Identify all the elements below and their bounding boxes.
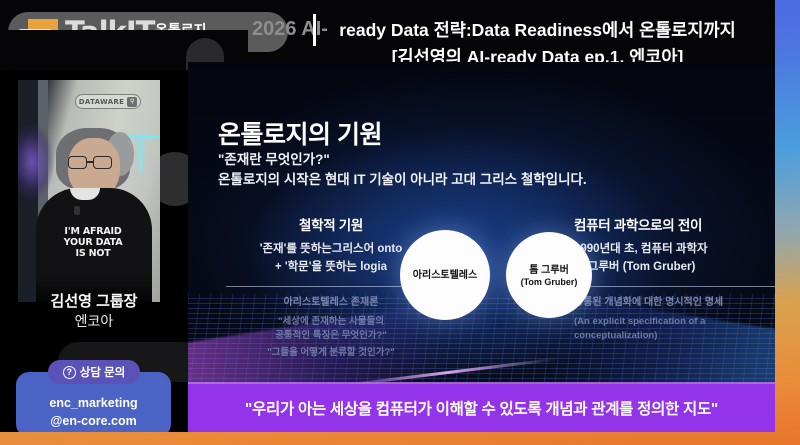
- glasses-lens-left: [68, 156, 87, 169]
- header-bar: TalkIT B2B Tech Media 온톨로지 2026 AI- read…: [0, 0, 775, 70]
- shirt-slogan-line3: IS NOT: [50, 248, 136, 259]
- contact-heading-label: 상담 문의: [80, 364, 126, 380]
- column-right-english1: (An explicit specification of a: [574, 315, 775, 329]
- shirt-slogan-line2: YOUR DATA: [50, 237, 136, 248]
- search-icon: ⚲: [127, 97, 137, 107]
- glasses-bridge: [87, 161, 93, 163]
- lapel-microphone-icon: [74, 206, 80, 215]
- column-left-quote1: "세상에 존재하는 사물들의: [226, 315, 436, 330]
- slide-subtitle: "존재란 무엇인가?" 온톨로지의 시작은 현대 IT 기술이 아니라 고대 그…: [218, 150, 587, 191]
- slide-banner-text: "우리가 아는 세상을 컴퓨터가 이해할 수 있도록 개념과 관계를 정의한 지…: [245, 397, 718, 419]
- slide-bottom-banner: "우리가 아는 세상을 컴퓨터가 이해할 수 있도록 개념과 관계를 정의한 지…: [188, 384, 775, 432]
- node-tom-gruber-sublabel: (Tom Gruber): [521, 277, 578, 287]
- column-right-heading: 컴퓨터 과학으로의 전이: [574, 214, 775, 234]
- presentation-slide: 온톨로지의 기원 "존재란 무엇인가?" 온톨로지의 시작은 현대 IT 기술이…: [188, 62, 775, 432]
- slide-subtitle-line2: 온톨로지의 시작은 현대 IT 기술이 아니라 고대 그리스 철학입니다.: [218, 170, 587, 190]
- slide-title: 온톨로지의 기원: [218, 115, 382, 151]
- node-tom-gruber: 톰 그루버 (Tom Gruber): [506, 232, 592, 318]
- node-aristotle: 아리스토텔레스: [400, 230, 490, 320]
- column-right-divider: [574, 286, 775, 287]
- dataware-backdrop-sign: DATAWARE ⚲: [75, 94, 141, 109]
- node-tom-gruber-label: 톰 그루버: [521, 264, 578, 277]
- slide-subtitle-line1: "존재란 무엇인가?": [218, 150, 587, 170]
- question-circle-icon: ?: [63, 366, 76, 379]
- contact-email-line1: enc_marketing: [16, 394, 171, 412]
- column-left-dim-heading: 아리스토텔레스 존재론: [226, 295, 436, 310]
- video-stage: TalkIT B2B Tech Media 온톨로지 2026 AI- read…: [0, 0, 775, 432]
- speaker-name: 김선영 그룹장: [0, 292, 188, 312]
- shirt-slogan: I'M AFRAID YOUR DATA IS NOT: [50, 226, 136, 260]
- glasses-icon: [68, 156, 118, 169]
- contact-email-line2: @en-core.com: [16, 412, 171, 430]
- node-aristotle-label: 아리스토텔레스: [413, 269, 477, 282]
- column-left-heading: 철학적 기원: [226, 214, 436, 234]
- contact-card-heading: ? 상담 문의: [48, 360, 140, 384]
- column-right-body-line2: 톰 그루버 (Tom Gruber): [574, 259, 775, 277]
- studio-glow-decor: [18, 125, 54, 199]
- speaker-video-frame: DATAWARE ⚲ I'M AFRAID YOUR DATA IS NOT: [18, 80, 160, 302]
- column-right-english2: conceptualization): [574, 329, 775, 343]
- speaker-organization: 엔코아: [0, 312, 188, 330]
- column-left-quote3: "그들을 어떻게 분류할 것인가?": [226, 346, 436, 361]
- speaker-caption: 김선영 그룹장 엔코아: [0, 292, 188, 330]
- dataware-sign-text: DATAWARE: [79, 98, 124, 106]
- slide-column-computer-science: 컴퓨터 과학으로의 전이 1990년대 초, 컴퓨터 과학자 톰 그루버 (To…: [574, 214, 775, 343]
- neon-line-vertical: [140, 136, 142, 172]
- column-right-dim-heading: 공통된 개념화에 대한 명시적인 명세: [574, 295, 775, 310]
- column-right-body-line1: 1990년대 초, 컴퓨터 과학자: [574, 241, 775, 259]
- contact-card[interactable]: ? 상담 문의 enc_marketing @en-core.com: [16, 372, 171, 432]
- shirt-slogan-line1: I'M AFRAID: [50, 226, 136, 237]
- column-left-quote2: 공통적인 특징은 무엇인가?": [226, 329, 436, 344]
- page-title-line1: ready Data 전략:Data Readiness에서 온톨로지까지: [300, 18, 775, 43]
- glasses-lens-right: [93, 156, 112, 169]
- speaker-video-panel[interactable]: DATAWARE ⚲ I'M AFRAID YOUR DATA IS NOT: [0, 70, 188, 432]
